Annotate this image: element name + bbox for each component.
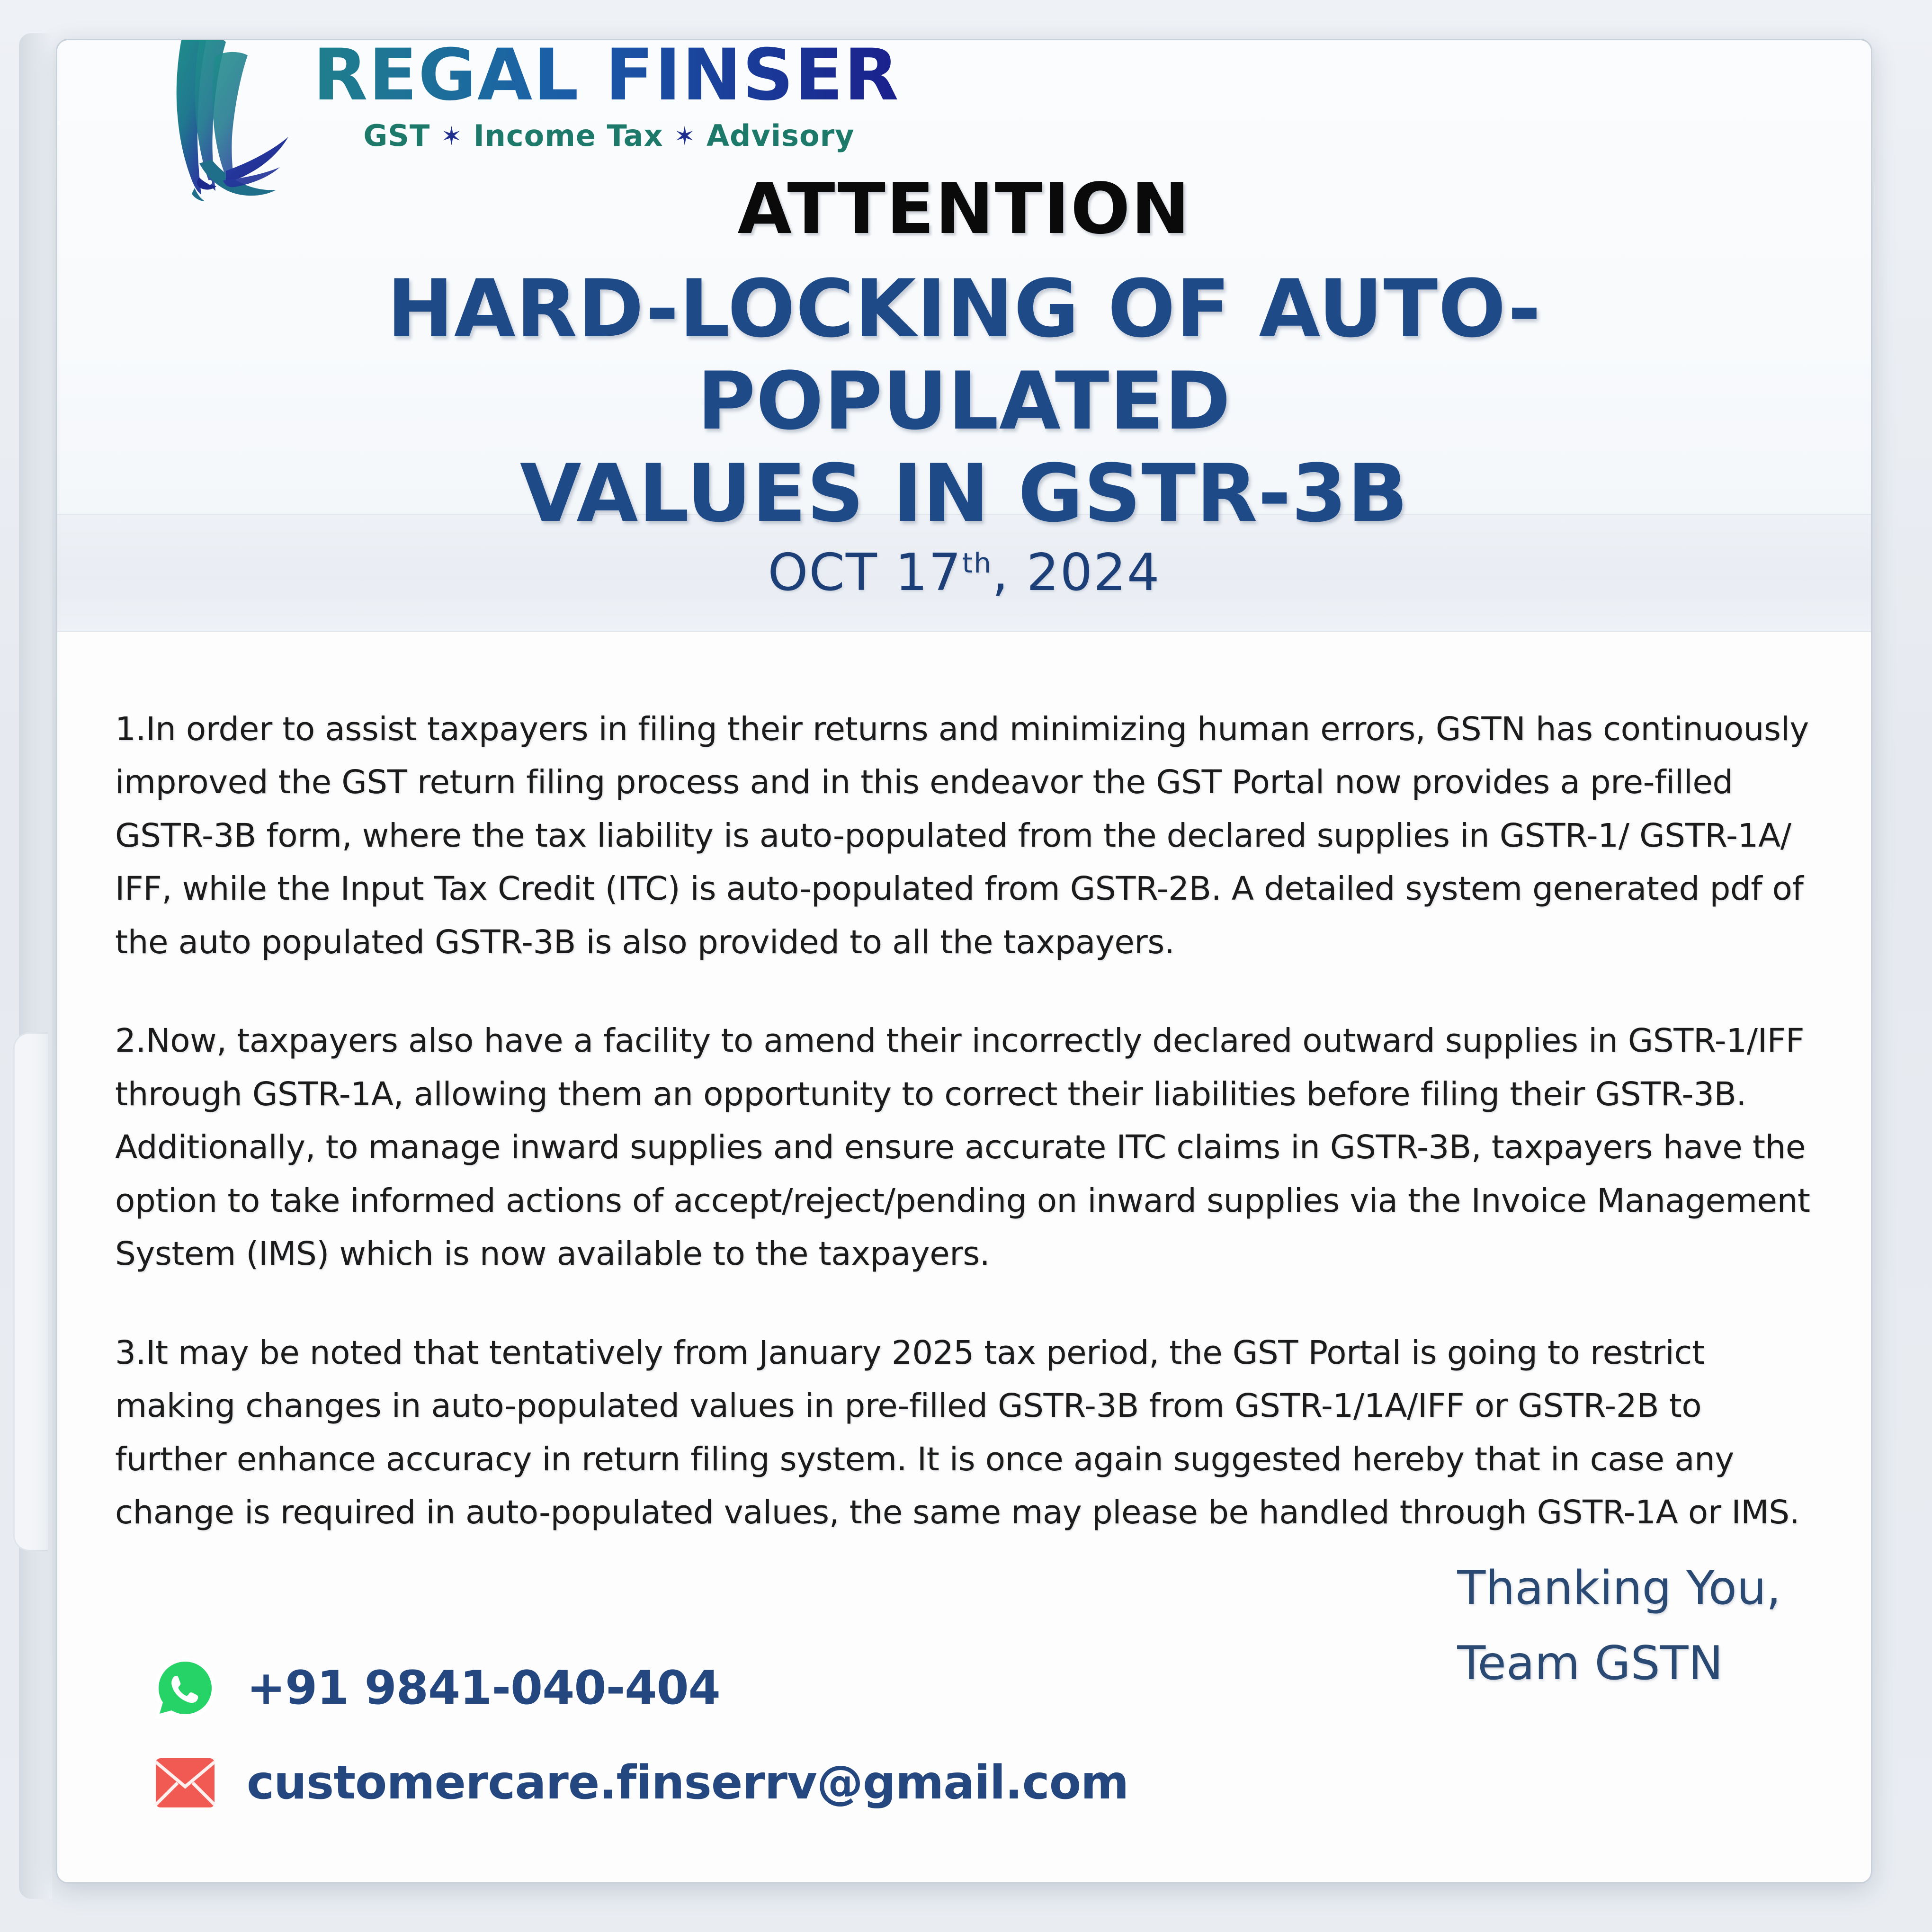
brand-text-block: REGAL FINSERRV GST ✶ Income Tax ✶ Adviso…: [313, 39, 905, 153]
tagline-separator-2: ✶: [674, 121, 696, 151]
contact-row-phone[interactable]: +91 9841-040-404: [152, 1655, 1128, 1721]
notice-card: REGAL FINSERRV GST ✶ Income Tax ✶ Adviso…: [56, 39, 1872, 1884]
tagline-advisory: Advisory: [707, 118, 855, 153]
body-paragraph-3: 3.It may be noted that tentatively from …: [115, 1326, 1813, 1539]
page-left-shadow: [19, 33, 52, 1899]
date-ordinal-suffix: th: [962, 547, 993, 579]
contact-block: +91 9841-040-404 customercare.finserrv@g…: [152, 1655, 1128, 1844]
envelope-icon: [152, 1750, 218, 1816]
footer-area: Thanking You, Team GSTN +91 9841-040-404: [57, 1551, 1871, 1882]
notice-body: 1.In order to assist taxpayers in filing…: [57, 632, 1871, 1539]
signoff-block: Thanking You, Team GSTN: [1457, 1551, 1781, 1701]
contact-row-email[interactable]: customercare.finserrv@gmail.com: [152, 1750, 1128, 1816]
tagline-separator-1: ✶: [441, 121, 463, 151]
page-headline: HARD-LOCKING OF AUTO-POPULATED VALUES IN…: [166, 263, 1762, 540]
signoff-team: Team GSTN: [1457, 1626, 1781, 1701]
signoff-thanking: Thanking You,: [1457, 1551, 1781, 1626]
date-month-day: OCT 17: [768, 543, 962, 602]
brand-name: REGAL FINSERRV: [313, 39, 905, 112]
header-band: REGAL FINSERRV GST ✶ Income Tax ✶ Adviso…: [57, 40, 1871, 515]
tagline-income-tax: Income Tax: [474, 118, 663, 153]
notice-date: OCT 17th, 2024: [768, 543, 1160, 602]
body-paragraph-2: 2.Now, taxpayers also have a facility to…: [115, 1014, 1813, 1280]
page-side-notch: [13, 1032, 48, 1551]
contact-email-address[interactable]: customercare.finserrv@gmail.com: [247, 1756, 1128, 1810]
contact-phone-number[interactable]: +91 9841-040-404: [247, 1661, 720, 1715]
tagline-gst: GST: [363, 118, 430, 153]
brand-tagline: GST ✶ Income Tax ✶ Advisory: [313, 118, 905, 153]
headline-line-1: HARD-LOCKING OF AUTO-POPULATED: [166, 263, 1762, 447]
page-title-attention: ATTENTION: [57, 168, 1871, 250]
brand-block: REGAL FINSERRV GST ✶ Income Tax ✶ Adviso…: [128, 39, 905, 182]
date-year: , 2024: [992, 543, 1161, 602]
body-paragraph-1: 1.In order to assist taxpayers in filing…: [115, 703, 1813, 969]
whatsapp-icon: [152, 1655, 218, 1721]
headline-line-2: VALUES IN GSTR-3B: [166, 447, 1762, 540]
